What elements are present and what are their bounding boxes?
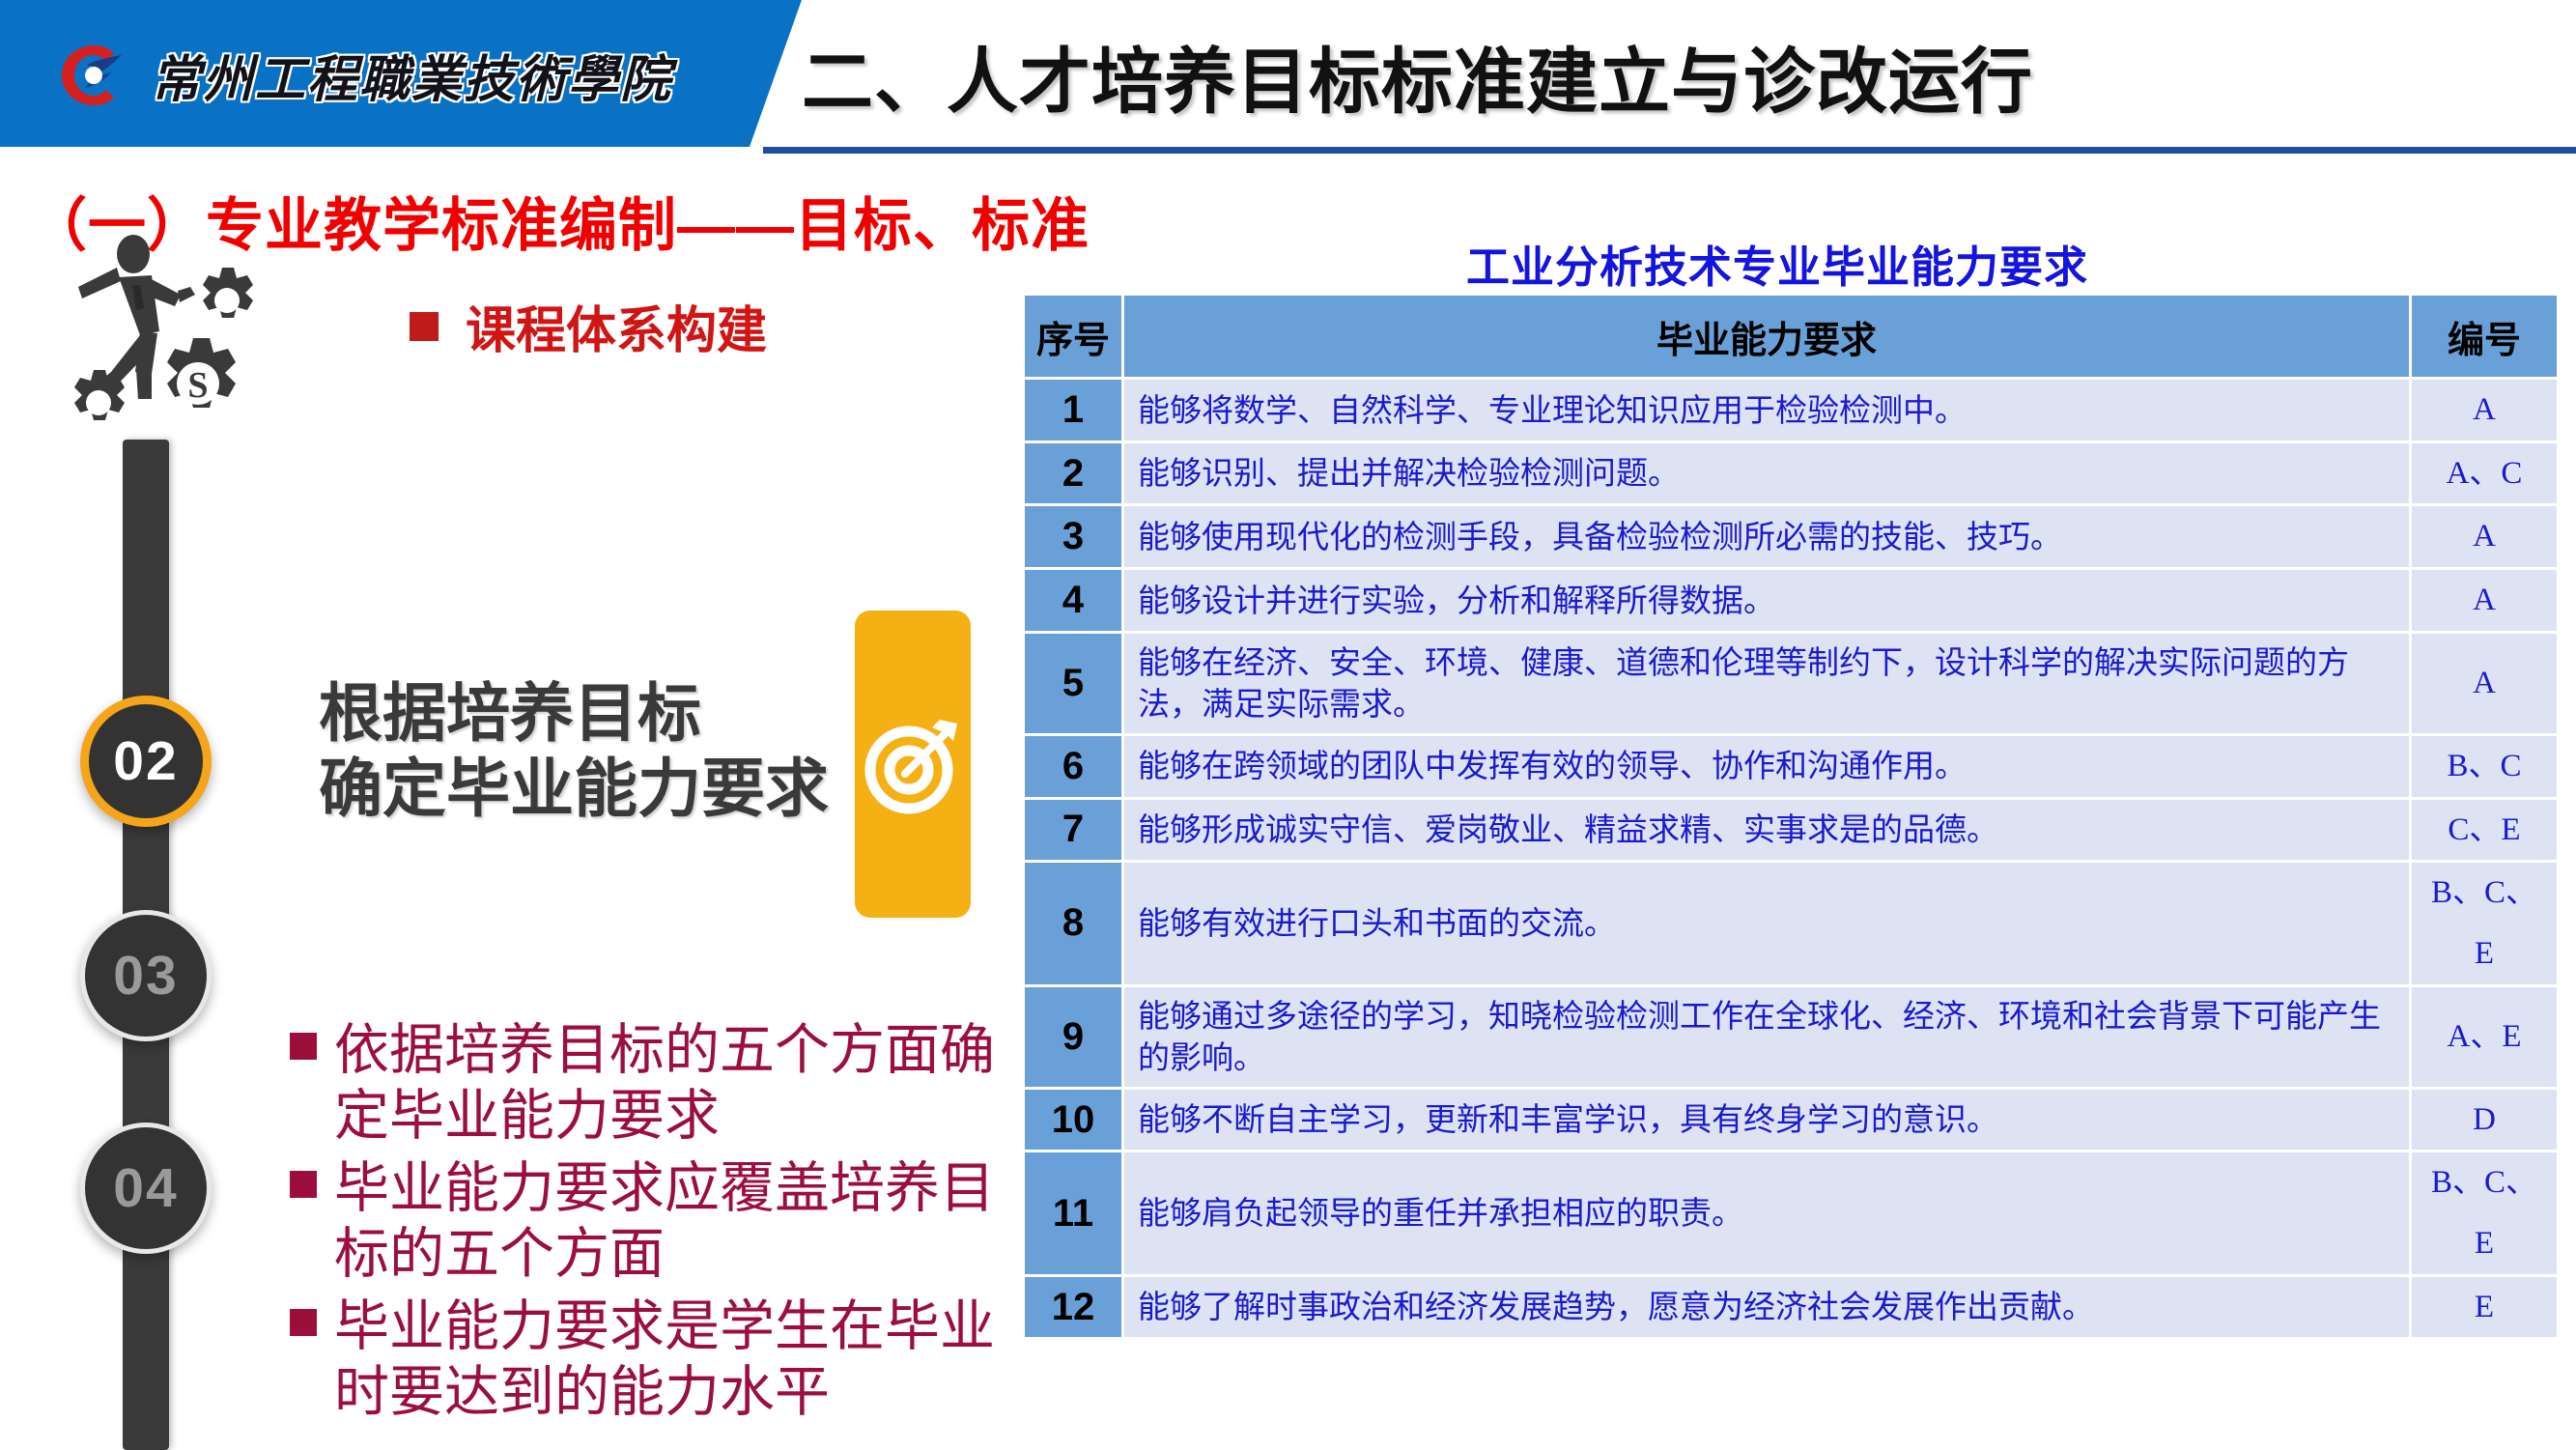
cell-no: 3: [1025, 506, 1121, 567]
column-header-no: 序号: [1025, 296, 1121, 377]
cell-requirement: 能够形成诚实守信、爱岗敬业、精益求精、实事求是的品德。: [1124, 800, 2409, 861]
cell-code: B、C、 E: [2412, 1152, 2557, 1273]
graduation-capability-table: 序号 毕业能力要求 编号 1 能够将数学、自然科学、专业理论知识应用于检验检测中…: [1022, 293, 2560, 1340]
cell-no: 12: [1025, 1277, 1121, 1338]
table-row: 11 能够肩负起领导的重任并承担相应的职责。 B、C、 E: [1025, 1152, 2557, 1273]
table-row: 6 能够在跨领域的团队中发挥有效的领导、协作和沟通作用。 B、C: [1025, 736, 2557, 797]
step-marker-02[interactable]: 02: [80, 696, 212, 827]
cell-no: 9: [1025, 987, 1121, 1087]
cell-code: A: [2412, 506, 2557, 567]
table-row: 2 能够识别、提出并解决检验检测问题。 A、C: [1025, 443, 2557, 504]
step-number-label: 04: [113, 1156, 178, 1220]
cell-no: 10: [1025, 1090, 1121, 1151]
cell-requirement: 能够识别、提出并解决检验检测问题。: [1124, 443, 2409, 504]
cell-no: 6: [1025, 736, 1121, 797]
cell-requirement: 能够有效进行口头和书面的交流。: [1124, 863, 2409, 983]
square-bullet-icon: [410, 312, 439, 341]
table-row: 1 能够将数学、自然科学、专业理论知识应用于检验检测中。 A: [1025, 380, 2557, 441]
list-item-label: 毕业能力要求应覆盖培养目标的五个方面: [334, 1155, 1005, 1288]
cell-requirement: 能够肩负起领导的重任并承担相应的职责。: [1124, 1152, 2409, 1273]
list-item: 依据培养目标的五个方面确定毕业能力要求: [290, 1017, 1005, 1150]
page-title: 二、人才培养目标标准建立与诊改运行: [802, 27, 2540, 124]
institute-name-text: 常州工程職業技術學院: [151, 39, 672, 111]
target-icon-card: [855, 611, 971, 918]
step-number-label: 02: [113, 729, 178, 793]
table-row: 4 能够设计并进行实验，分析和解释所得数据。 A: [1025, 570, 2557, 631]
square-bullet-icon: [290, 1171, 317, 1198]
institute-emblem-icon: [58, 42, 133, 109]
svg-text:S: S: [187, 365, 208, 406]
table-row: 12 能够了解时事政治和经济发展趋势，愿意为经济社会发展作出贡献。 E: [1025, 1277, 2557, 1338]
course-system-bullet: 课程体系构建: [410, 290, 767, 362]
square-bullet-icon: [290, 1309, 317, 1336]
cell-requirement: 能够了解时事政治和经济发展趋势，愿意为经济社会发展作出贡献。: [1124, 1277, 2409, 1338]
lead-line-2: 确定毕业能力要求: [319, 752, 829, 827]
cell-requirement: 能够通过多途径的学习，知晓检验检测工作在全球化、经济、环境和社会背景下可能产生的…: [1124, 987, 2409, 1087]
cell-requirement: 能够设计并进行实验，分析和解释所得数据。: [1124, 570, 2409, 631]
cell-requirement: 能够不断自主学习，更新和丰富学识，具有终身学习的意识。: [1124, 1090, 2409, 1151]
cell-no: 11: [1025, 1152, 1121, 1273]
cell-code: A: [2412, 380, 2557, 441]
cell-code: D: [2412, 1090, 2557, 1151]
list-item-label: 依据培养目标的五个方面确定毕业能力要求: [334, 1017, 1005, 1150]
cell-code: A、E: [2412, 987, 2557, 1087]
cell-no: 7: [1025, 800, 1121, 861]
cell-code: A: [2412, 570, 2557, 631]
cell-no: 4: [1025, 570, 1121, 631]
institute-logo: 常州工程職業技術學院: [58, 39, 672, 111]
cell-no: 5: [1025, 634, 1121, 733]
cell-requirement: 能够使用现代化的检测手段，具备检验检测所必需的技能、技巧。: [1124, 506, 2409, 567]
cell-code: E: [2412, 1277, 2557, 1338]
cell-requirement: 能够将数学、自然科学、专业理论知识应用于检验检测中。: [1124, 380, 2409, 441]
cell-code: B、C: [2412, 736, 2557, 797]
step-marker-04[interactable]: 04: [80, 1123, 212, 1254]
cell-code: A、C: [2412, 443, 2557, 504]
column-header-requirement: 毕业能力要求: [1124, 296, 2409, 377]
table-body: 1 能够将数学、自然科学、专业理论知识应用于检验检测中。 A 2 能够识别、提出…: [1025, 380, 2557, 1337]
column-header-code: 编号: [2412, 296, 2557, 377]
cell-code: A: [2412, 634, 2557, 733]
table-row: 9 能够通过多途径的学习，知晓检验检测工作在全球化、经济、环境和社会背景下可能产…: [1025, 987, 2557, 1087]
cell-code: C、E: [2412, 800, 2557, 861]
cell-no: 1: [1025, 380, 1121, 441]
step-marker-03[interactable]: 03: [80, 910, 212, 1041]
table-row: 10 能够不断自主学习，更新和丰富学识，具有终身学习的意识。 D: [1025, 1090, 2557, 1151]
list-item: 毕业能力要求是学生在毕业时要达到的能力水平: [290, 1294, 1005, 1426]
table-row: 3 能够使用现代化的检测手段，具备检验检测所必需的技能、技巧。 A: [1025, 506, 2557, 567]
list-item-label: 毕业能力要求是学生在毕业时要达到的能力水平: [334, 1294, 1005, 1426]
square-bullet-icon: [290, 1033, 317, 1060]
cell-no: 8: [1025, 863, 1121, 983]
slide-root: 常州工程職業技術學院 二、人才培养目标标准建立与诊改运行 （一）专业教学标准编制…: [0, 0, 2576, 1450]
lead-statement: 根据培养目标 确定毕业能力要求: [319, 676, 829, 827]
slide-header: 常州工程職業技術學院 二、人才培养目标标准建立与诊改运行: [0, 0, 2576, 147]
businessman-on-gears-icon: S: [43, 227, 285, 469]
table-header-row: 序号 毕业能力要求 编号: [1025, 296, 2557, 377]
cell-requirement: 能够在经济、安全、环境、健康、道德和伦理等制约下，设计科学的解决实际问题的方法，…: [1124, 634, 2409, 733]
cell-no: 2: [1025, 443, 1121, 504]
cell-code: B、C、 E: [2412, 863, 2557, 983]
key-points-list: 依据培养目标的五个方面确定毕业能力要求 毕业能力要求应覆盖培养目标的五个方面 毕…: [290, 1017, 1005, 1431]
table-row: 7 能够形成诚实守信、爱岗敬业、精益求精、实事求是的品德。 C、E: [1025, 800, 2557, 861]
table-title: 工业分析技术专业毕业能力要求: [1005, 232, 2550, 295]
lead-line-1: 根据培养目标: [319, 676, 829, 752]
table-row: 5 能够在经济、安全、环境、健康、道德和伦理等制约下，设计科学的解决实际问题的方…: [1025, 634, 2557, 733]
cell-requirement: 能够在跨领域的团队中发挥有效的领导、协作和沟通作用。: [1124, 736, 2409, 797]
course-system-label: 课程体系构建: [466, 290, 767, 362]
table-row: 8 能够有效进行口头和书面的交流。 B、C、 E: [1025, 863, 2557, 983]
step-number-label: 03: [113, 944, 178, 1008]
list-item: 毕业能力要求应覆盖培养目标的五个方面: [290, 1155, 1005, 1288]
target-with-arrow-icon: [861, 710, 965, 819]
header-divider-rule: [763, 147, 2576, 154]
